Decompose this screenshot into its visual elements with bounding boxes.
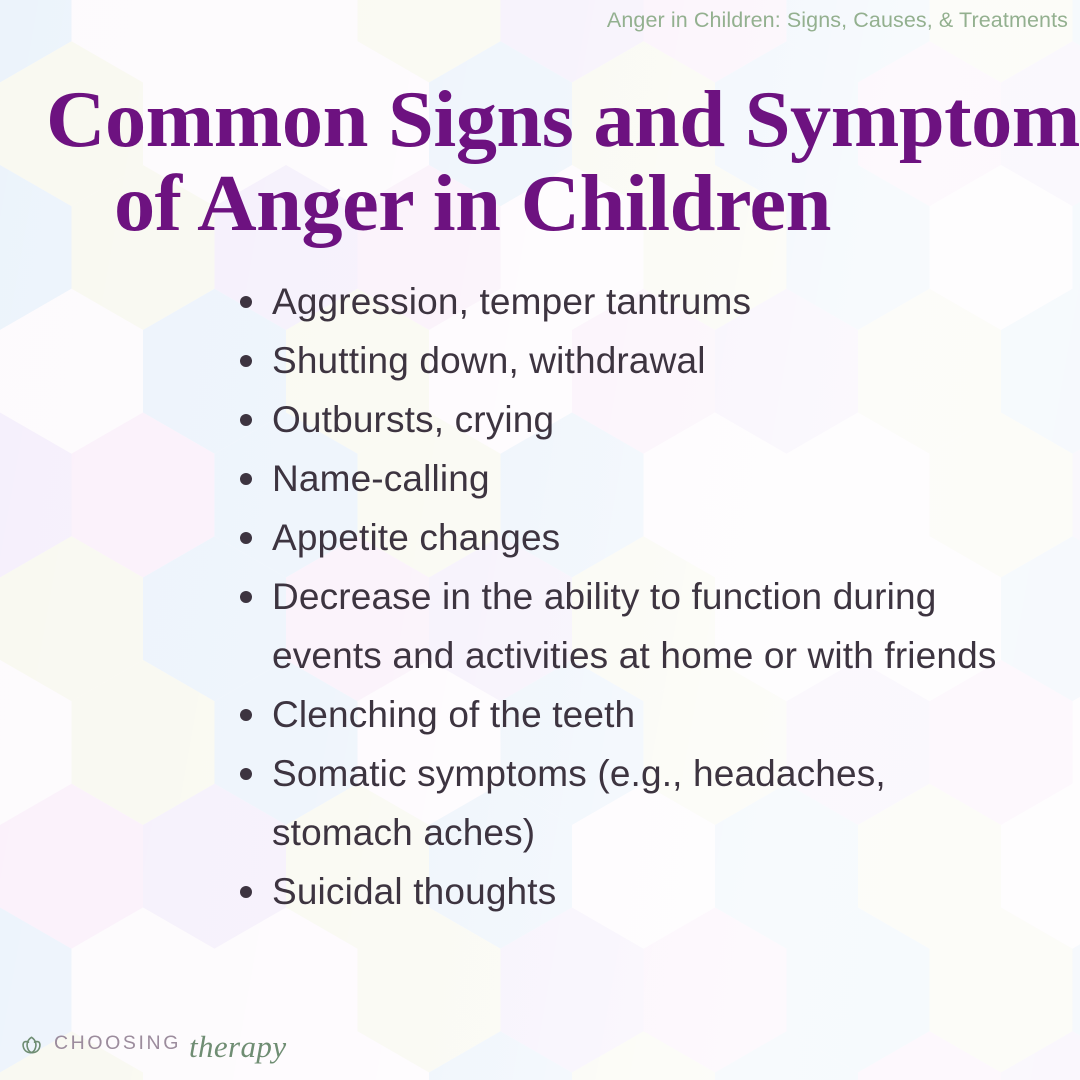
symptom-list-item: Appetite changes <box>232 508 1032 567</box>
brand-logo[interactable]: CHOOSING therapy <box>18 1022 286 1066</box>
symptom-list-item-label: Outbursts, crying <box>272 390 1032 449</box>
bullet-dot-icon <box>240 532 252 544</box>
symptom-list-item-label: Name-calling <box>272 449 1032 508</box>
bullet-dot-icon <box>240 886 252 898</box>
bullet-dot-icon <box>240 473 252 485</box>
symptom-list-item: Name-calling <box>232 449 1032 508</box>
bullet-dot-icon <box>240 296 252 308</box>
symptom-list-item-label: Clenching of the teeth <box>272 685 1032 744</box>
article-source-header: Anger in Children: Signs, Causes, & Trea… <box>607 8 1068 33</box>
symptom-list-item: Decrease in the ability to function duri… <box>232 567 1032 685</box>
symptom-list-item-label: Shutting down, withdrawal <box>272 331 1032 390</box>
symptom-list-item: Somatic symptoms (e.g., headaches, stoma… <box>232 744 1032 862</box>
symptom-list-item-label: Somatic symptoms (e.g., headaches, stoma… <box>272 744 1032 862</box>
page-title-line-2: of Anger in Children <box>46 162 1072 246</box>
bullet-dot-icon <box>240 591 252 603</box>
infographic-canvas: Anger in Children: Signs, Causes, & Trea… <box>0 0 1080 1080</box>
symptom-list-item-label: Suicidal thoughts <box>272 862 1032 921</box>
bullet-dot-icon <box>240 768 252 780</box>
symptom-list-item-label: Aggression, temper tantrums <box>272 272 1032 331</box>
symptom-list-item-label: Appetite changes <box>272 508 1032 567</box>
symptom-list-item: Outbursts, crying <box>232 390 1032 449</box>
bullet-dot-icon <box>240 355 252 367</box>
symptom-list-item: Clenching of the teeth <box>232 685 1032 744</box>
symptom-list-item: Suicidal thoughts <box>232 862 1032 921</box>
symptom-list-item-label: Decrease in the ability to function duri… <box>272 567 1032 685</box>
bullet-dot-icon <box>240 414 252 426</box>
page-title-line-1: Common Signs and Symptoms <box>46 78 1072 162</box>
brand-word-choosing: CHOOSING <box>54 1034 181 1054</box>
symptom-list: Aggression, temper tantrumsShutting down… <box>232 272 1032 921</box>
brand-word-therapy: therapy <box>189 1031 287 1062</box>
page-title: Common Signs and Symptoms of Anger in Ch… <box>46 78 1072 246</box>
symptom-list-item: Shutting down, withdrawal <box>232 331 1032 390</box>
lotus-flower-icon <box>18 1031 45 1058</box>
bullet-dot-icon <box>240 709 252 721</box>
symptom-list-item: Aggression, temper tantrums <box>232 272 1032 331</box>
